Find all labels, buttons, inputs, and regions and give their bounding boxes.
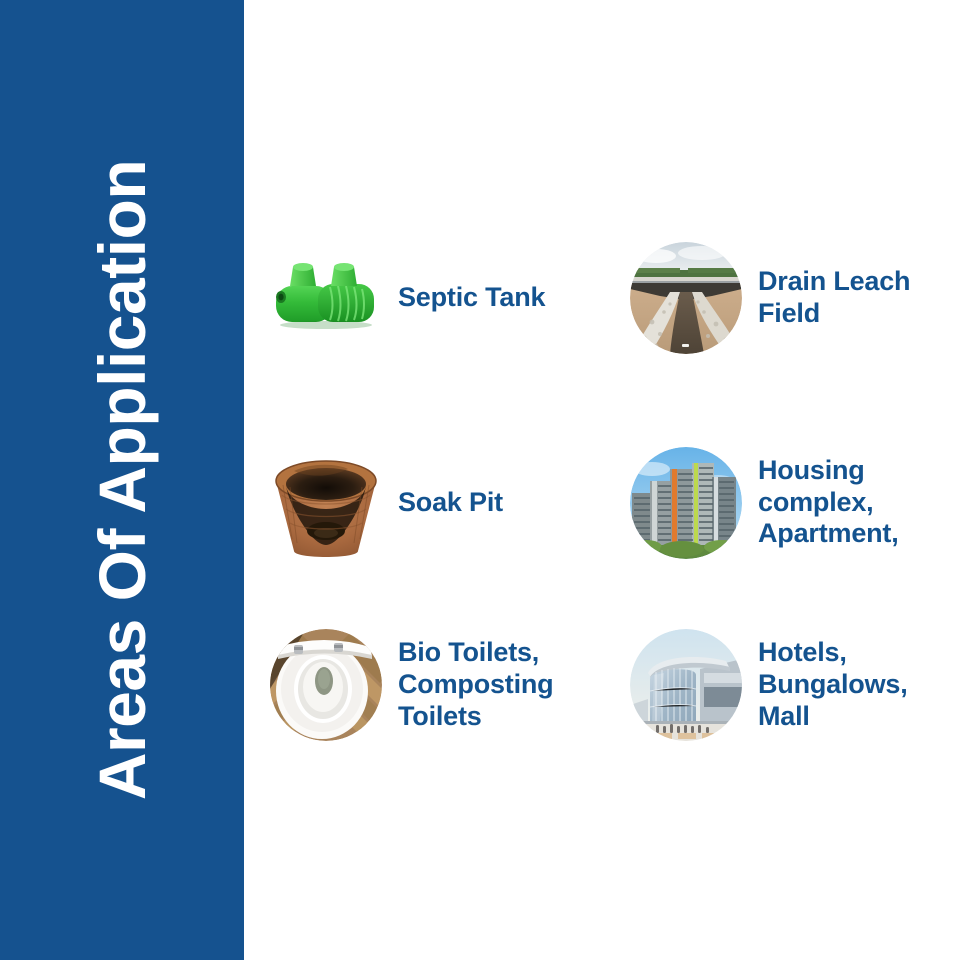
- soak-pit-icon: [270, 447, 382, 559]
- content-area: Septic Tank: [244, 0, 960, 960]
- item-label: Drain Leach Field: [758, 266, 940, 330]
- item-label: Bio Toilets, Composting Toilets: [398, 637, 600, 733]
- item-septic-tank[interactable]: Septic Tank: [270, 195, 600, 400]
- application-areas-grid: Septic Tank: [270, 195, 960, 765]
- item-soak-pit[interactable]: Soak Pit: [270, 400, 600, 605]
- item-housing-complex[interactable]: Housing complex, Apartment,: [610, 400, 940, 605]
- slide-root: Areas Of Application: [0, 0, 960, 960]
- apartment-buildings-icon: [630, 447, 742, 559]
- item-label: Septic Tank: [398, 282, 545, 314]
- drain-leach-field-icon: [630, 242, 742, 354]
- item-label: Hotels, Bungalows, Mall: [758, 637, 940, 733]
- item-label: Soak Pit: [398, 487, 503, 519]
- sidebar-banner: Areas Of Application: [0, 0, 244, 960]
- item-drain-leach-field[interactable]: Drain Leach Field: [610, 195, 940, 400]
- shopping-mall-icon: [630, 629, 742, 741]
- item-label: Housing complex, Apartment,: [758, 455, 940, 551]
- item-bio-toilets[interactable]: Bio Toilets, Composting Toilets: [270, 605, 600, 765]
- page-title: Areas Of Application: [84, 160, 160, 800]
- toilet-icon: [270, 629, 382, 741]
- septic-tank-icon: [270, 242, 382, 354]
- item-hotels-bungalows-mall[interactable]: Hotels, Bungalows, Mall: [610, 605, 940, 765]
